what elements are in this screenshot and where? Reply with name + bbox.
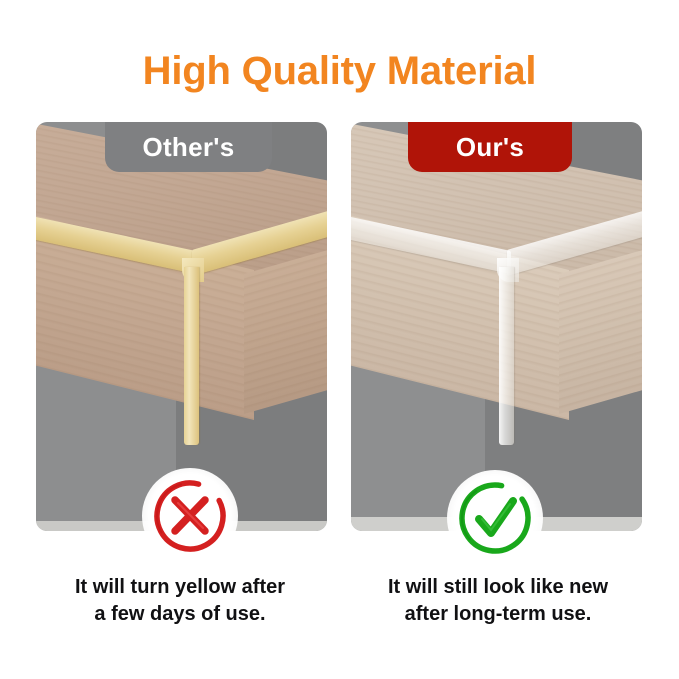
- caption-ours-line1: It will still look like new: [388, 576, 608, 598]
- corner-guard-vertical-edge: [184, 267, 199, 445]
- check-icon: [447, 470, 543, 566]
- badge-other: Other's: [105, 122, 272, 172]
- caption-other: It will turn yellow after a few days of …: [30, 574, 330, 628]
- comparison-infographic: High Quality Material: [0, 0, 679, 679]
- page-title: High Quality Material: [0, 46, 679, 96]
- caption-ours: It will still look like new after long-t…: [348, 574, 648, 628]
- corner-guard-vertical-edge: [499, 267, 514, 445]
- caption-ours-line2: after long-term use.: [405, 603, 592, 625]
- caption-other-line2: a few days of use.: [94, 603, 265, 625]
- badge-ours: Our's: [408, 122, 572, 172]
- cross-icon: [142, 468, 238, 564]
- caption-other-line1: It will turn yellow after: [75, 576, 285, 598]
